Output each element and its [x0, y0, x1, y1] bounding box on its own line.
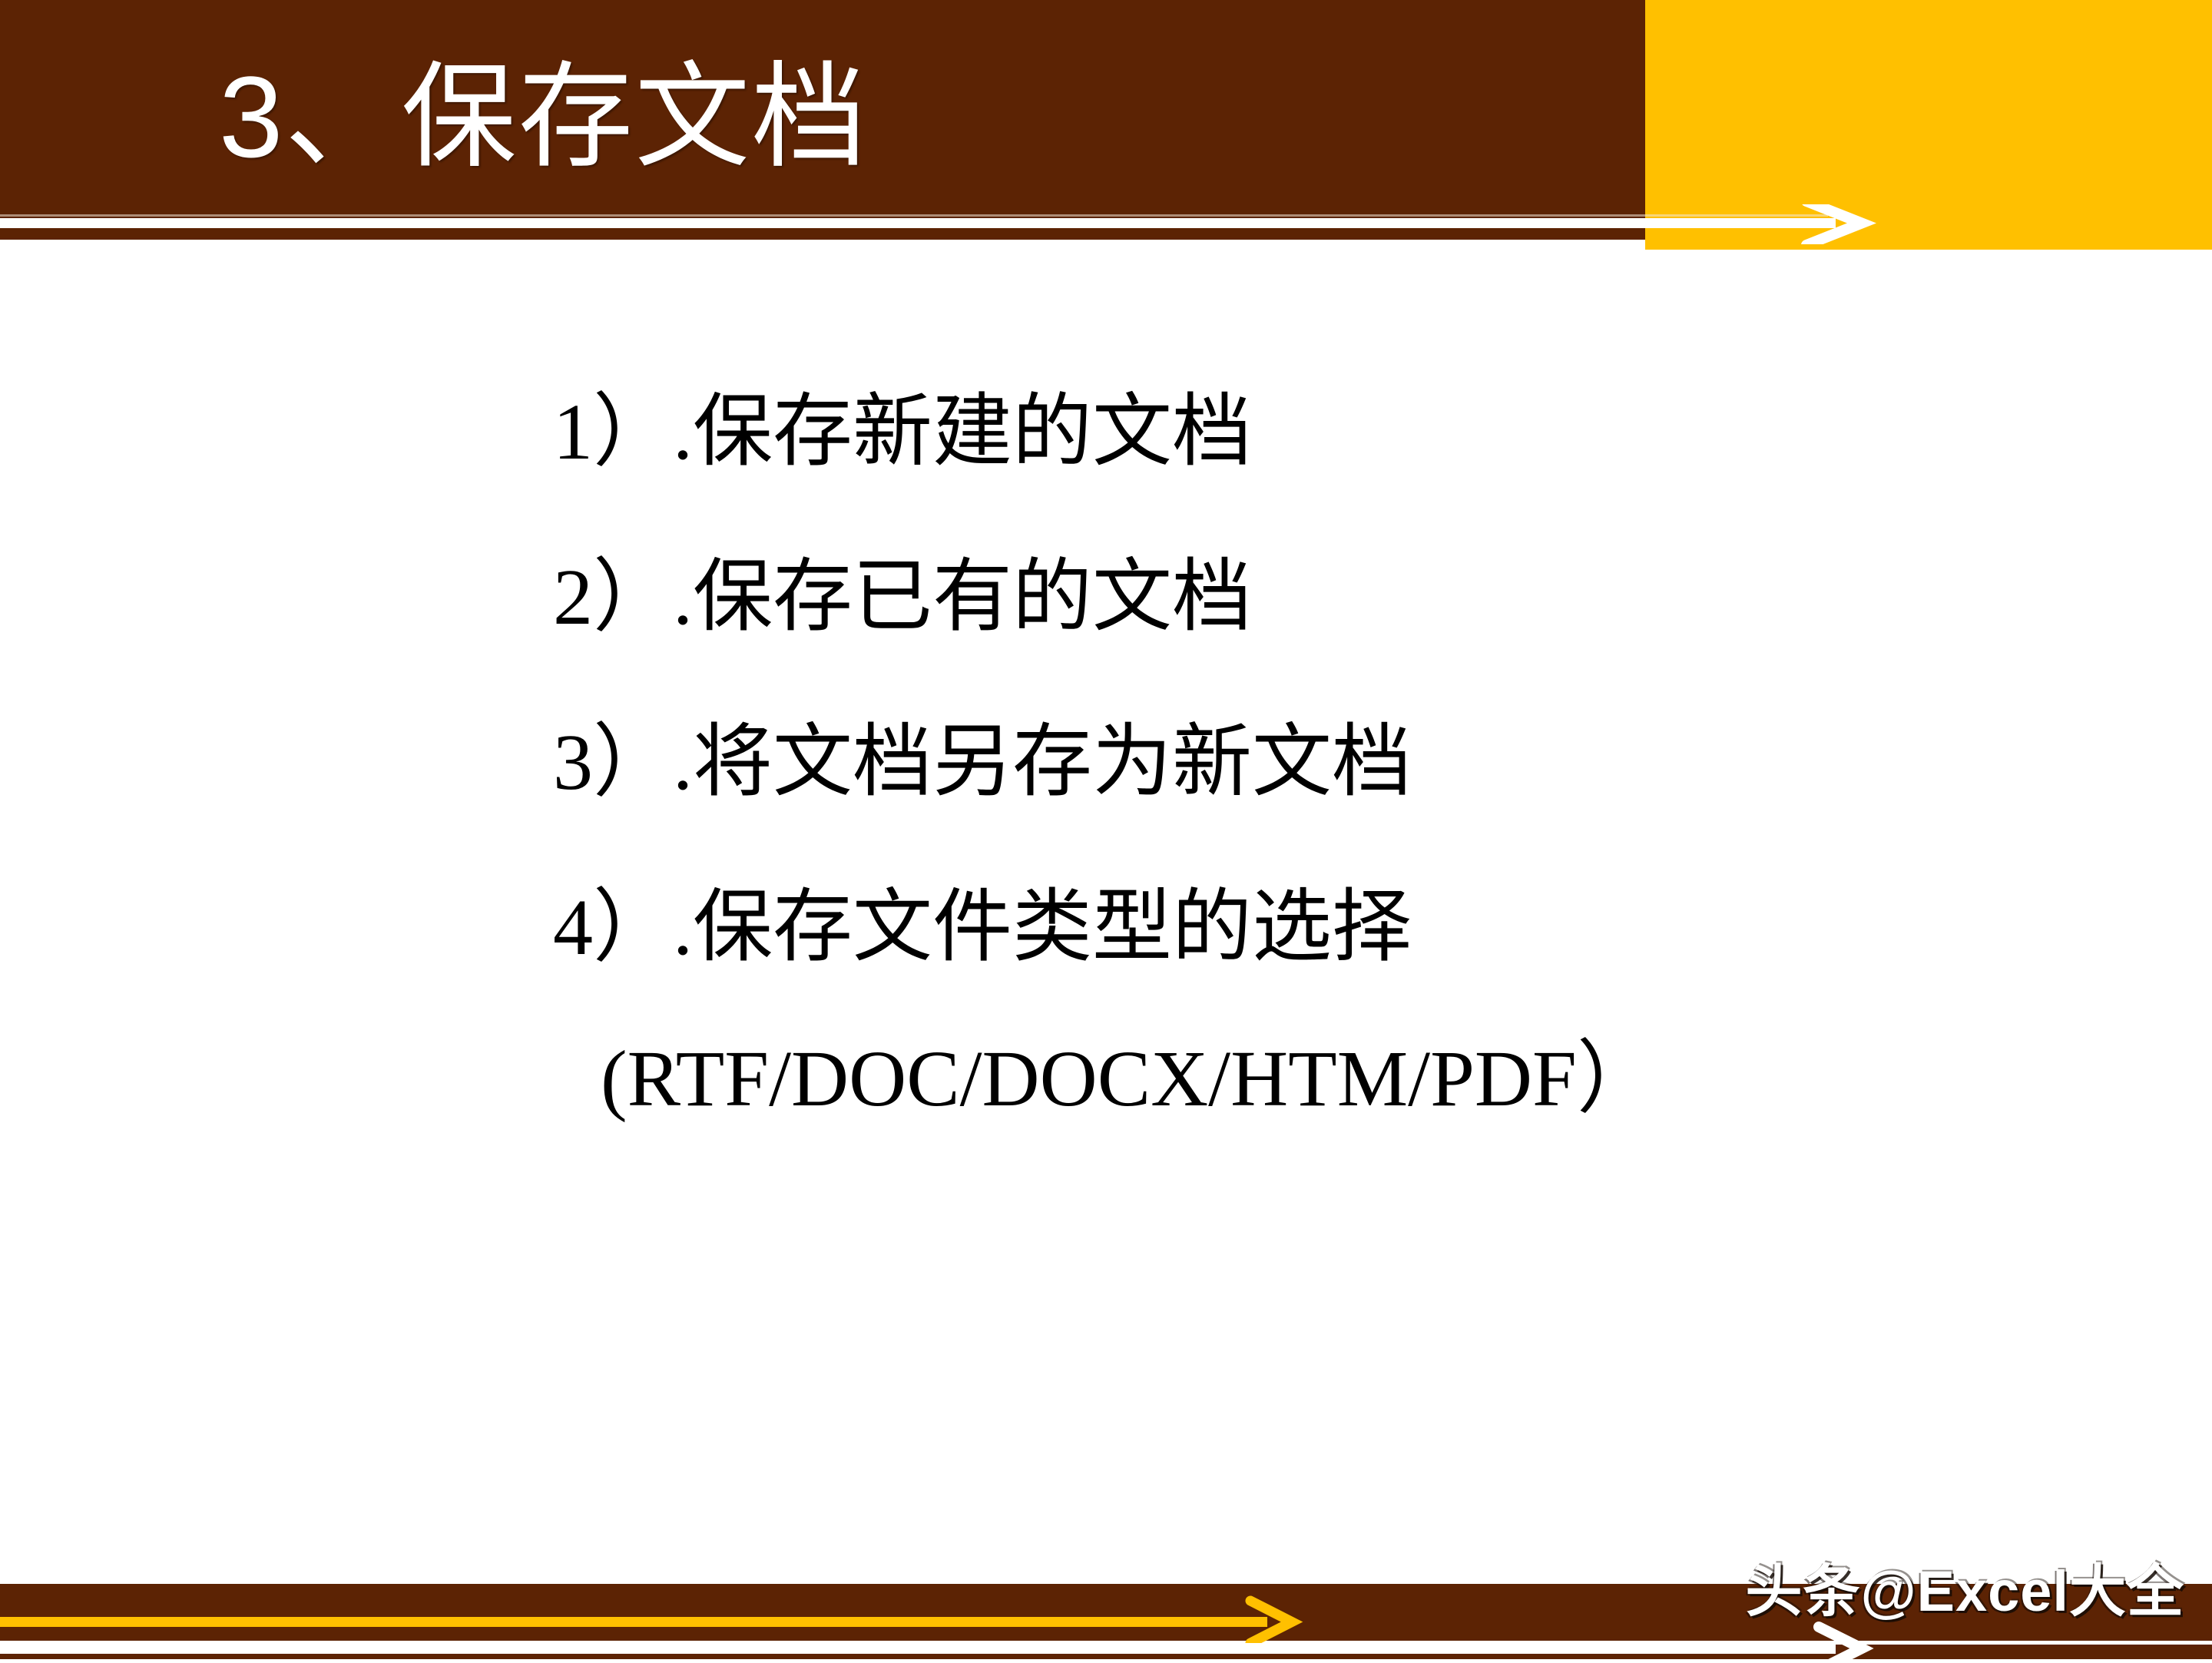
page-title: 3、保存文档 — [219, 54, 1448, 181]
list-item-number: 4）. — [553, 883, 693, 972]
list-item-number: 1）. — [553, 388, 693, 476]
list-item: 2）.保存已有的文档 — [553, 515, 1936, 680]
footer-brown-bar-bottom — [0, 1645, 2212, 1659]
list-item: 1）.保存新建的文档 — [553, 349, 1936, 515]
list-item-number: 3）. — [553, 718, 693, 807]
list-item-number: 2）. — [553, 553, 693, 641]
list-item-label: 保存已有的文档 — [693, 552, 1252, 641]
header-yellow-block — [1645, 0, 2212, 250]
list-item: 3）.将文档另存为新文档 — [553, 680, 1936, 845]
list-item-label: 保存新建的文档 — [693, 387, 1252, 476]
list-item-label: 将文档另存为新文档 — [693, 717, 1412, 807]
bullet-list: 1）.保存新建的文档 2）.保存已有的文档 3）.将文档另存为新文档 4）.保存… — [553, 349, 1936, 1148]
slide-canvas: 3、保存文档 1）.保存新建的文档 2）.保存已有的文档 3）.将文档另存为新文… — [0, 0, 2212, 1659]
watermark-label: 头条@Excel大全 — [1745, 1545, 2184, 1628]
file-formats-line: (RTF/DOC/DOCX/HTM/PDF） — [601, 1010, 1936, 1148]
list-item-label: 保存文件类型的选择 — [693, 883, 1412, 972]
list-item: 4）.保存文件类型的选择 — [553, 845, 1936, 1010]
